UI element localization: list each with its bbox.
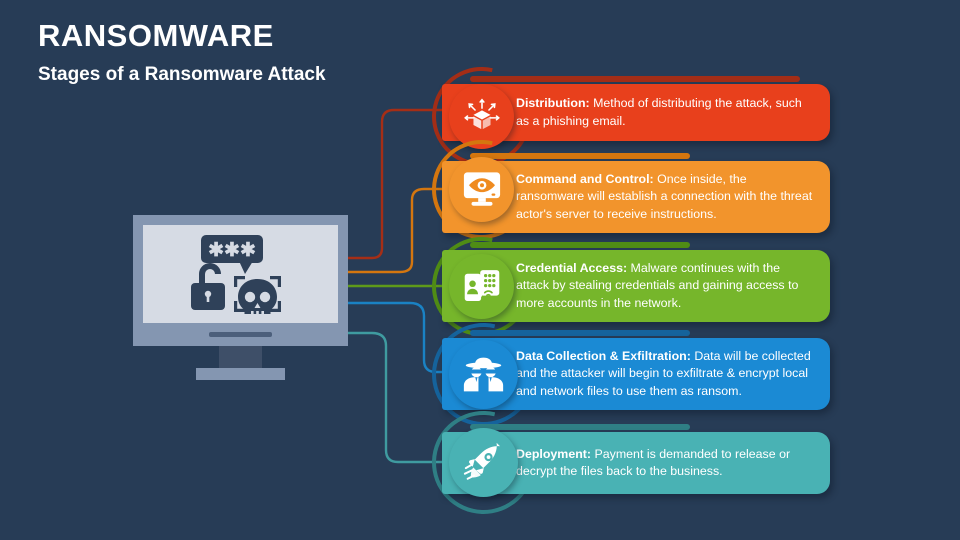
spy-agents-icon — [462, 354, 505, 395]
stage-label-distribution: Distribution: — [516, 96, 590, 110]
stage-badge-deployment[interactable] — [449, 428, 518, 497]
monitor-stand-neck — [219, 346, 262, 368]
stage-label-command-and-control: Command and Control: — [516, 172, 654, 186]
stage-badge-data-collection-exfiltration[interactable] — [449, 340, 518, 409]
stage-accent-bar-data-collection-exfiltration — [470, 330, 690, 336]
stage-accent-bar-deployment — [470, 424, 690, 430]
unlocked-padlock-icon — [191, 263, 225, 310]
stage-label-data-collection-exfiltration: Data Collection & Exfiltration: — [516, 349, 691, 363]
monitor-light-strip — [209, 332, 272, 337]
bubble-asterisks: ✱✱✱ — [208, 240, 256, 261]
ransomware-monitor-illustration: ✱✱✱ — [133, 215, 348, 385]
rocket-icon — [462, 442, 505, 483]
monitor-stand-base — [196, 368, 285, 380]
stage-badge-command-and-control[interactable] — [449, 157, 514, 222]
phone-keypad-credentials-icon — [462, 267, 502, 306]
stage-label-deployment: Deployment: — [516, 447, 591, 461]
cube-distribution-icon — [462, 97, 502, 136]
stage-accent-bar-distribution — [470, 76, 800, 82]
skull-scan-icon — [234, 276, 281, 316]
stage-badge-credential-access[interactable] — [449, 254, 514, 319]
monitor-eye-icon — [462, 170, 502, 209]
monitor-screen-artwork: ✱✱✱ — [181, 235, 301, 317]
stage-accent-bar-command-and-control — [470, 153, 690, 159]
stage-accent-bar-credential-access — [470, 242, 690, 248]
slide-canvas: RANSOMWARE Stages of a Ransomware Attack — [0, 0, 960, 540]
stage-label-credential-access: Credential Access: — [516, 261, 627, 275]
